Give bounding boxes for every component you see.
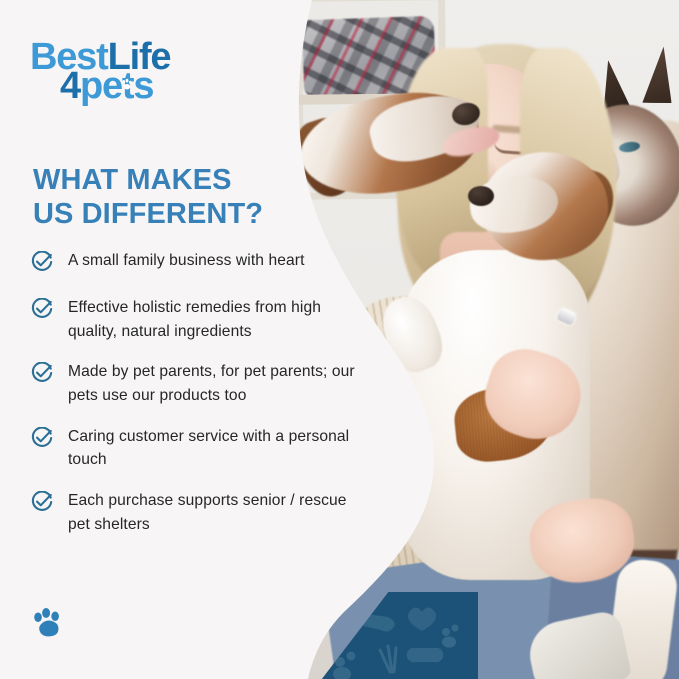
list-item: Made by pet parents, for pet parents; ou… — [31, 360, 361, 407]
content-panel: BestLife 4pets WHAT MAKES US DIFFERENT? — [0, 0, 360, 679]
check-circle-icon — [31, 491, 53, 513]
list-item: Caring customer service with a personal … — [31, 425, 361, 472]
brand-logo[interactable]: BestLife 4pets — [30, 38, 260, 114]
headline-line-1: WHAT MAKES — [33, 163, 333, 197]
footer-paw-print-icon — [29, 603, 67, 641]
logo-line-2: 4pets — [60, 67, 153, 105]
list-item: Each purchase supports senior / rescue p… — [31, 489, 361, 536]
check-circle-icon — [31, 427, 53, 449]
list-item-label: Caring customer service with a personal … — [68, 425, 361, 472]
check-circle-icon — [31, 362, 53, 384]
list-item-label: Effective holistic remedies from high qu… — [68, 296, 361, 343]
check-circle-icon — [31, 298, 53, 320]
headline-line-2: US DIFFERENT? — [33, 197, 333, 231]
check-circle-icon — [31, 251, 53, 273]
list-item-label: Each purchase supports senior / rescue p… — [68, 489, 361, 536]
benefits-list: A small family business with heart Effec… — [31, 249, 361, 554]
held-dog-nose — [468, 186, 494, 206]
logo-four: 4 — [60, 65, 80, 107]
list-item: Effective holistic remedies from high qu… — [31, 296, 361, 343]
page-title: WHAT MAKES US DIFFERENT? — [33, 163, 333, 231]
list-item-label: A small family business with heart — [68, 249, 305, 273]
promo-infographic: BestLife 4pets WHAT MAKES US DIFFERENT? — [0, 0, 679, 679]
list-item: A small family business with heart — [31, 249, 361, 279]
logo-paw-print-icon — [120, 78, 134, 91]
list-item-label: Made by pet parents, for pet parents; ou… — [68, 360, 361, 407]
logo-pets: pets — [80, 65, 153, 107]
